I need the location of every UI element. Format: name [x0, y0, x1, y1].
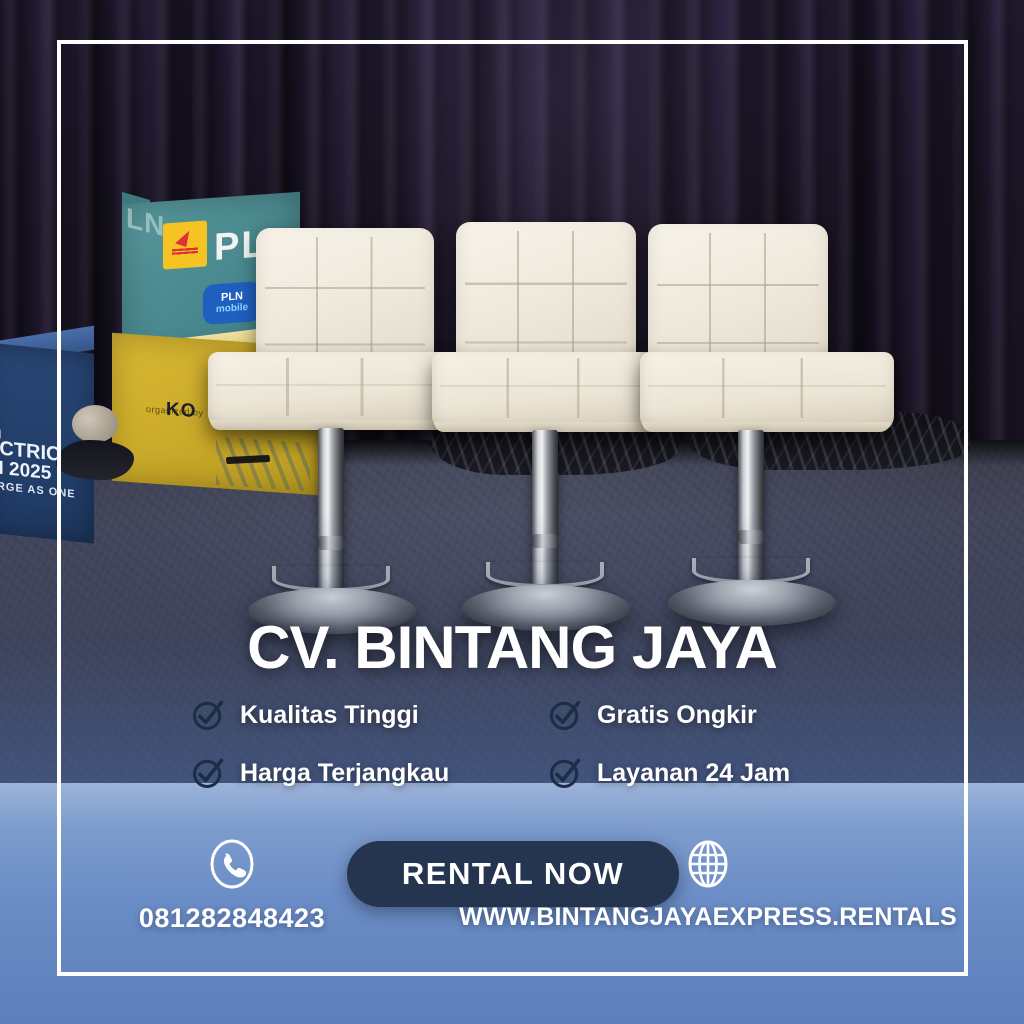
- feature-item-gratis-ongkir: Gratis Ongkir: [547, 697, 890, 733]
- phone-number[interactable]: 081282848423: [97, 903, 367, 934]
- stool-seat: [432, 352, 662, 432]
- floor-prop: [72, 405, 118, 443]
- feature-label: Kualitas Tinggi: [240, 701, 419, 730]
- phone-block[interactable]: 081282848423: [97, 838, 367, 934]
- feature-label: Gratis Ongkir: [597, 701, 757, 730]
- floor-cable-pile: [56, 440, 134, 480]
- pln-logo-icon: [163, 220, 207, 269]
- pln-mobile-line2: mobile: [216, 302, 248, 315]
- check-circle-icon: [547, 755, 583, 791]
- stool-seat: [640, 352, 894, 432]
- contact-bar: 081282848423 RENTAL NOW WWW.BINTANGJAYAE…: [57, 838, 968, 948]
- globe-icon: [682, 838, 734, 890]
- website-url[interactable]: WWW.BINTANGJAYAEXPRESS.RENTALS: [458, 903, 958, 932]
- feature-item-kualitas-tinggi: Kualitas Tinggi: [190, 697, 533, 733]
- feature-label: Layanan 24 Jam: [597, 759, 790, 788]
- feature-label: Harga Terjangkau: [240, 759, 449, 788]
- website-block[interactable]: WWW.BINTANGJAYAEXPRESS.RENTALS: [458, 838, 958, 932]
- stool-seat-lip: [642, 422, 890, 432]
- check-circle-icon: [547, 697, 583, 733]
- lightning-bolt-icon: [172, 230, 198, 260]
- promo-poster: LN PLN PLN mobile organized by KO N ECTR…: [0, 0, 1024, 1024]
- feature-item-layanan-24-jam: Layanan 24 Jam: [547, 755, 890, 791]
- check-circle-icon: [190, 697, 226, 733]
- yellow-box-pattern: [216, 437, 310, 492]
- pln-mobile-badge: PLN mobile: [203, 281, 261, 325]
- stool-seat: [208, 352, 450, 430]
- phone-icon: [206, 838, 258, 890]
- pln-ghost-text: LN: [126, 202, 160, 340]
- feature-item-harga-terjangkau: Harga Terjangkau: [190, 755, 533, 791]
- check-circle-icon: [190, 755, 226, 791]
- page-title: CV. BINTANG JAYA: [0, 613, 1024, 682]
- feature-list: Kualitas Tinggi Gratis Ongkir Harga Terj…: [190, 697, 890, 791]
- yellow-box-brand: KO: [166, 399, 197, 423]
